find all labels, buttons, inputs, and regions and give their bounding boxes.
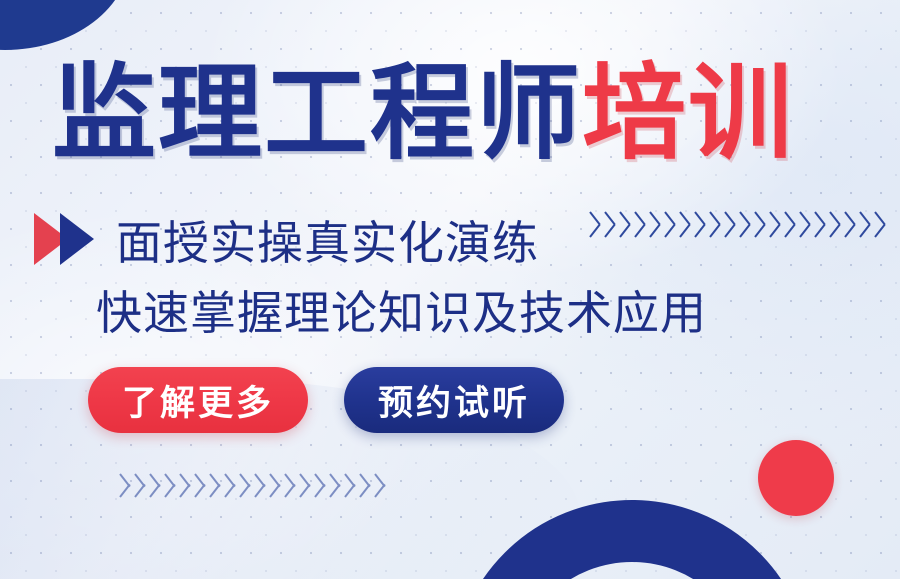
promo-banner: 监理工程师培训 面授实操真实化演练 快速掌握理论知识及技术应用 了解更多 预约试… — [0, 0, 900, 579]
navy-ring-arc-decoration — [452, 500, 812, 579]
chevron-strip-right-icon — [590, 202, 888, 246]
headline-accent-text: 培训 — [582, 56, 794, 172]
triangle-blue-icon — [60, 213, 94, 265]
double-triangle-right-icon — [34, 213, 108, 265]
book-trial-button[interactable]: 预约试听 — [344, 367, 564, 433]
subtitle-line-1: 面授实操真实化演练 — [116, 207, 539, 273]
navy-ellipse-decoration — [0, 0, 130, 50]
page-title: 监理工程师培训 — [52, 58, 852, 170]
chevron-strip-bottom-icon — [120, 466, 388, 504]
learn-more-button[interactable]: 了解更多 — [88, 367, 308, 433]
headline-primary-text: 监理工程师 — [52, 56, 582, 172]
subtitle-line-2: 快速掌握理论知识及技术应用 — [96, 277, 707, 343]
red-circle-decoration — [758, 440, 834, 516]
cta-button-row: 了解更多 预约试听 — [88, 367, 564, 433]
